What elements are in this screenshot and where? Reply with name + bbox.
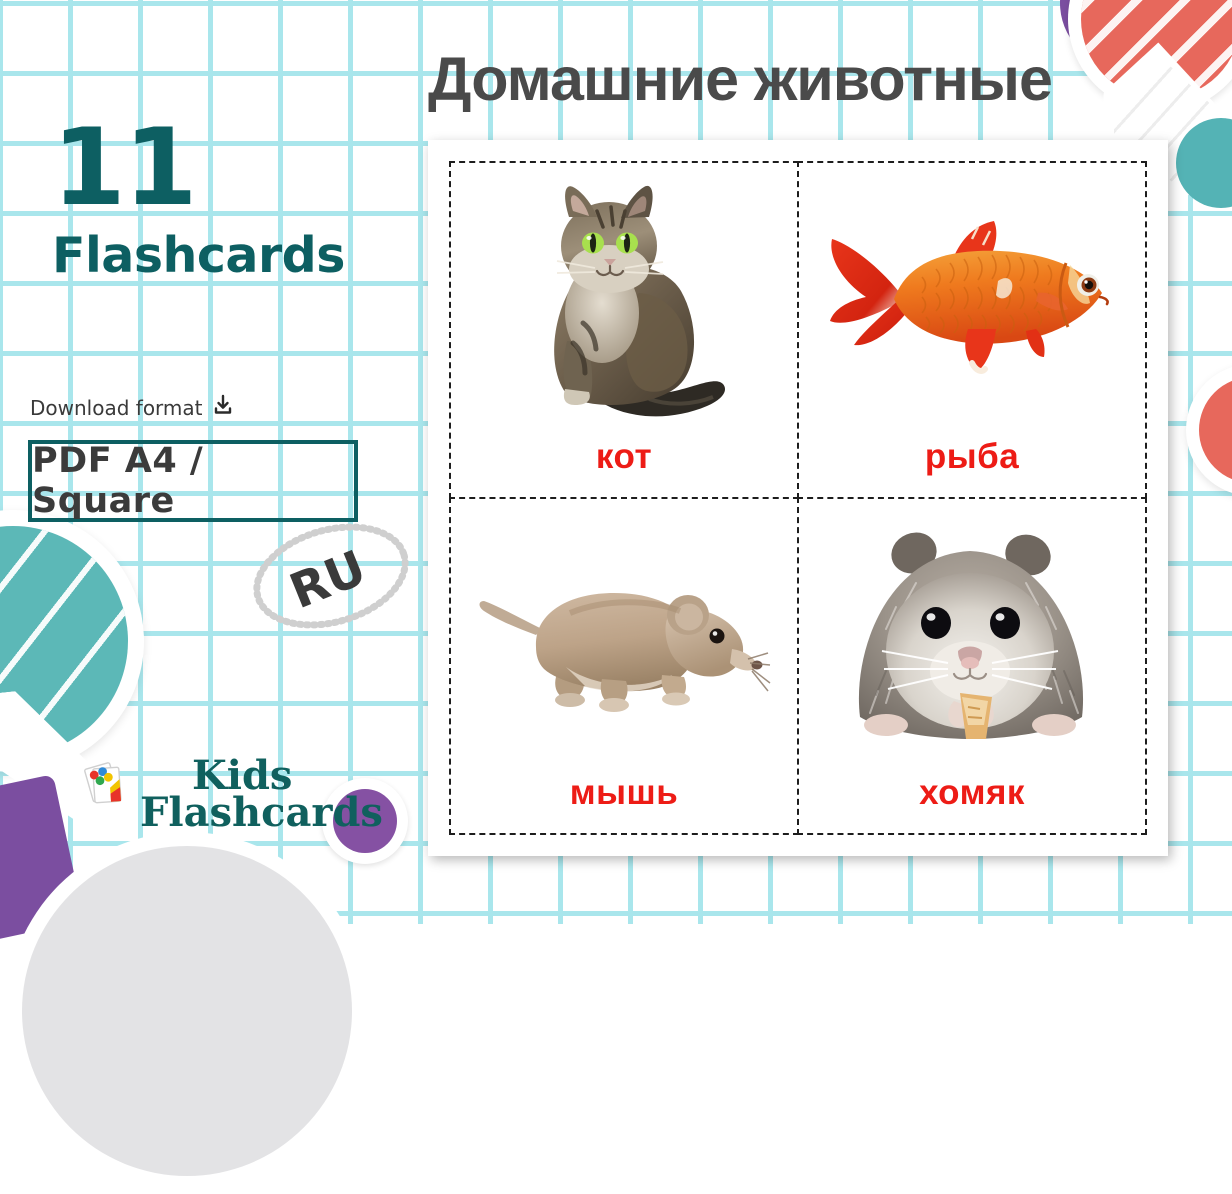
- page-title: Домашние животные: [428, 44, 1052, 114]
- flashcard-mouse[interactable]: мышь: [449, 497, 799, 835]
- flashcard-hamster[interactable]: хомяк: [797, 497, 1147, 835]
- flashcard-grid: кот: [450, 162, 1146, 834]
- download-format-label: Download format: [30, 396, 203, 420]
- flashcards-logo-icon: [78, 758, 136, 816]
- pdf-format-label: PDF A4 / Square: [32, 441, 354, 521]
- flashcard-fish[interactable]: рыба: [797, 161, 1147, 499]
- gray-circle-decoration: [22, 846, 352, 1176]
- language-stamp: RU: [246, 516, 416, 636]
- mouse-image: [451, 499, 797, 773]
- flashcard-word: мышь: [570, 773, 678, 827]
- download-format-row: Download format: [30, 394, 234, 421]
- flashcard-sheet: кот: [428, 140, 1168, 856]
- brand-logo[interactable]: Kids Flashcards: [78, 758, 383, 832]
- flashcard-word: хомяк: [919, 773, 1025, 827]
- brand-line-2: Flashcards: [140, 795, 383, 832]
- flashcard-cat[interactable]: кот: [449, 161, 799, 499]
- brand-name: Kids Flashcards: [140, 758, 383, 832]
- cat-image: [451, 163, 797, 437]
- flashcard-word: кот: [596, 437, 652, 491]
- flashcard-count-block: 11 Flashcards: [52, 122, 345, 284]
- flashcard-word: рыба: [925, 437, 1019, 491]
- flashcard-count-label: Flashcards: [52, 227, 345, 284]
- goldfish-image: [799, 163, 1145, 437]
- hamster-image: [799, 499, 1145, 773]
- flashcard-count: 11: [52, 122, 345, 213]
- download-icon[interactable]: [212, 394, 234, 421]
- pdf-format-button[interactable]: PDF A4 / Square: [28, 440, 358, 522]
